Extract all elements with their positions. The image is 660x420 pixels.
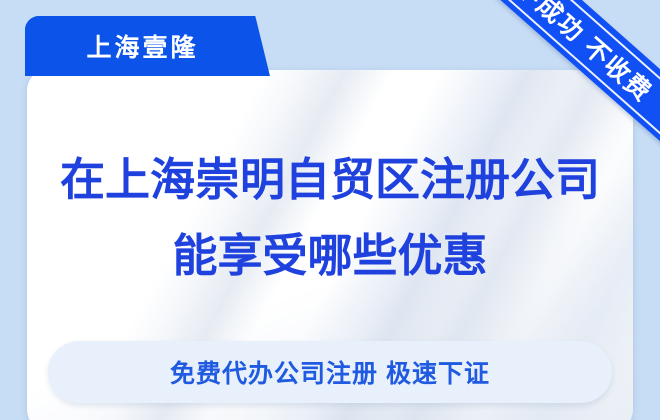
headline-line-2: 能享受哪些优惠	[27, 218, 633, 294]
brand-tab-label: 上海壹隆	[25, 16, 257, 76]
cta-pill[interactable]: 免费代办公司注册 极速下证	[48, 341, 612, 403]
cta-label: 免费代办公司注册 极速下证	[170, 354, 490, 390]
promo-banner: 在上海崇明自贸区注册公司 能享受哪些优惠 免费代办公司注册 极速下证 上海壹隆 …	[0, 0, 660, 420]
content-card: 在上海崇明自贸区注册公司 能享受哪些优惠 免费代办公司注册 极速下证	[27, 70, 633, 420]
headline-block: 在上海崇明自贸区注册公司 能享受哪些优惠	[27, 142, 633, 294]
headline-line-1: 在上海崇明自贸区注册公司	[27, 142, 633, 218]
